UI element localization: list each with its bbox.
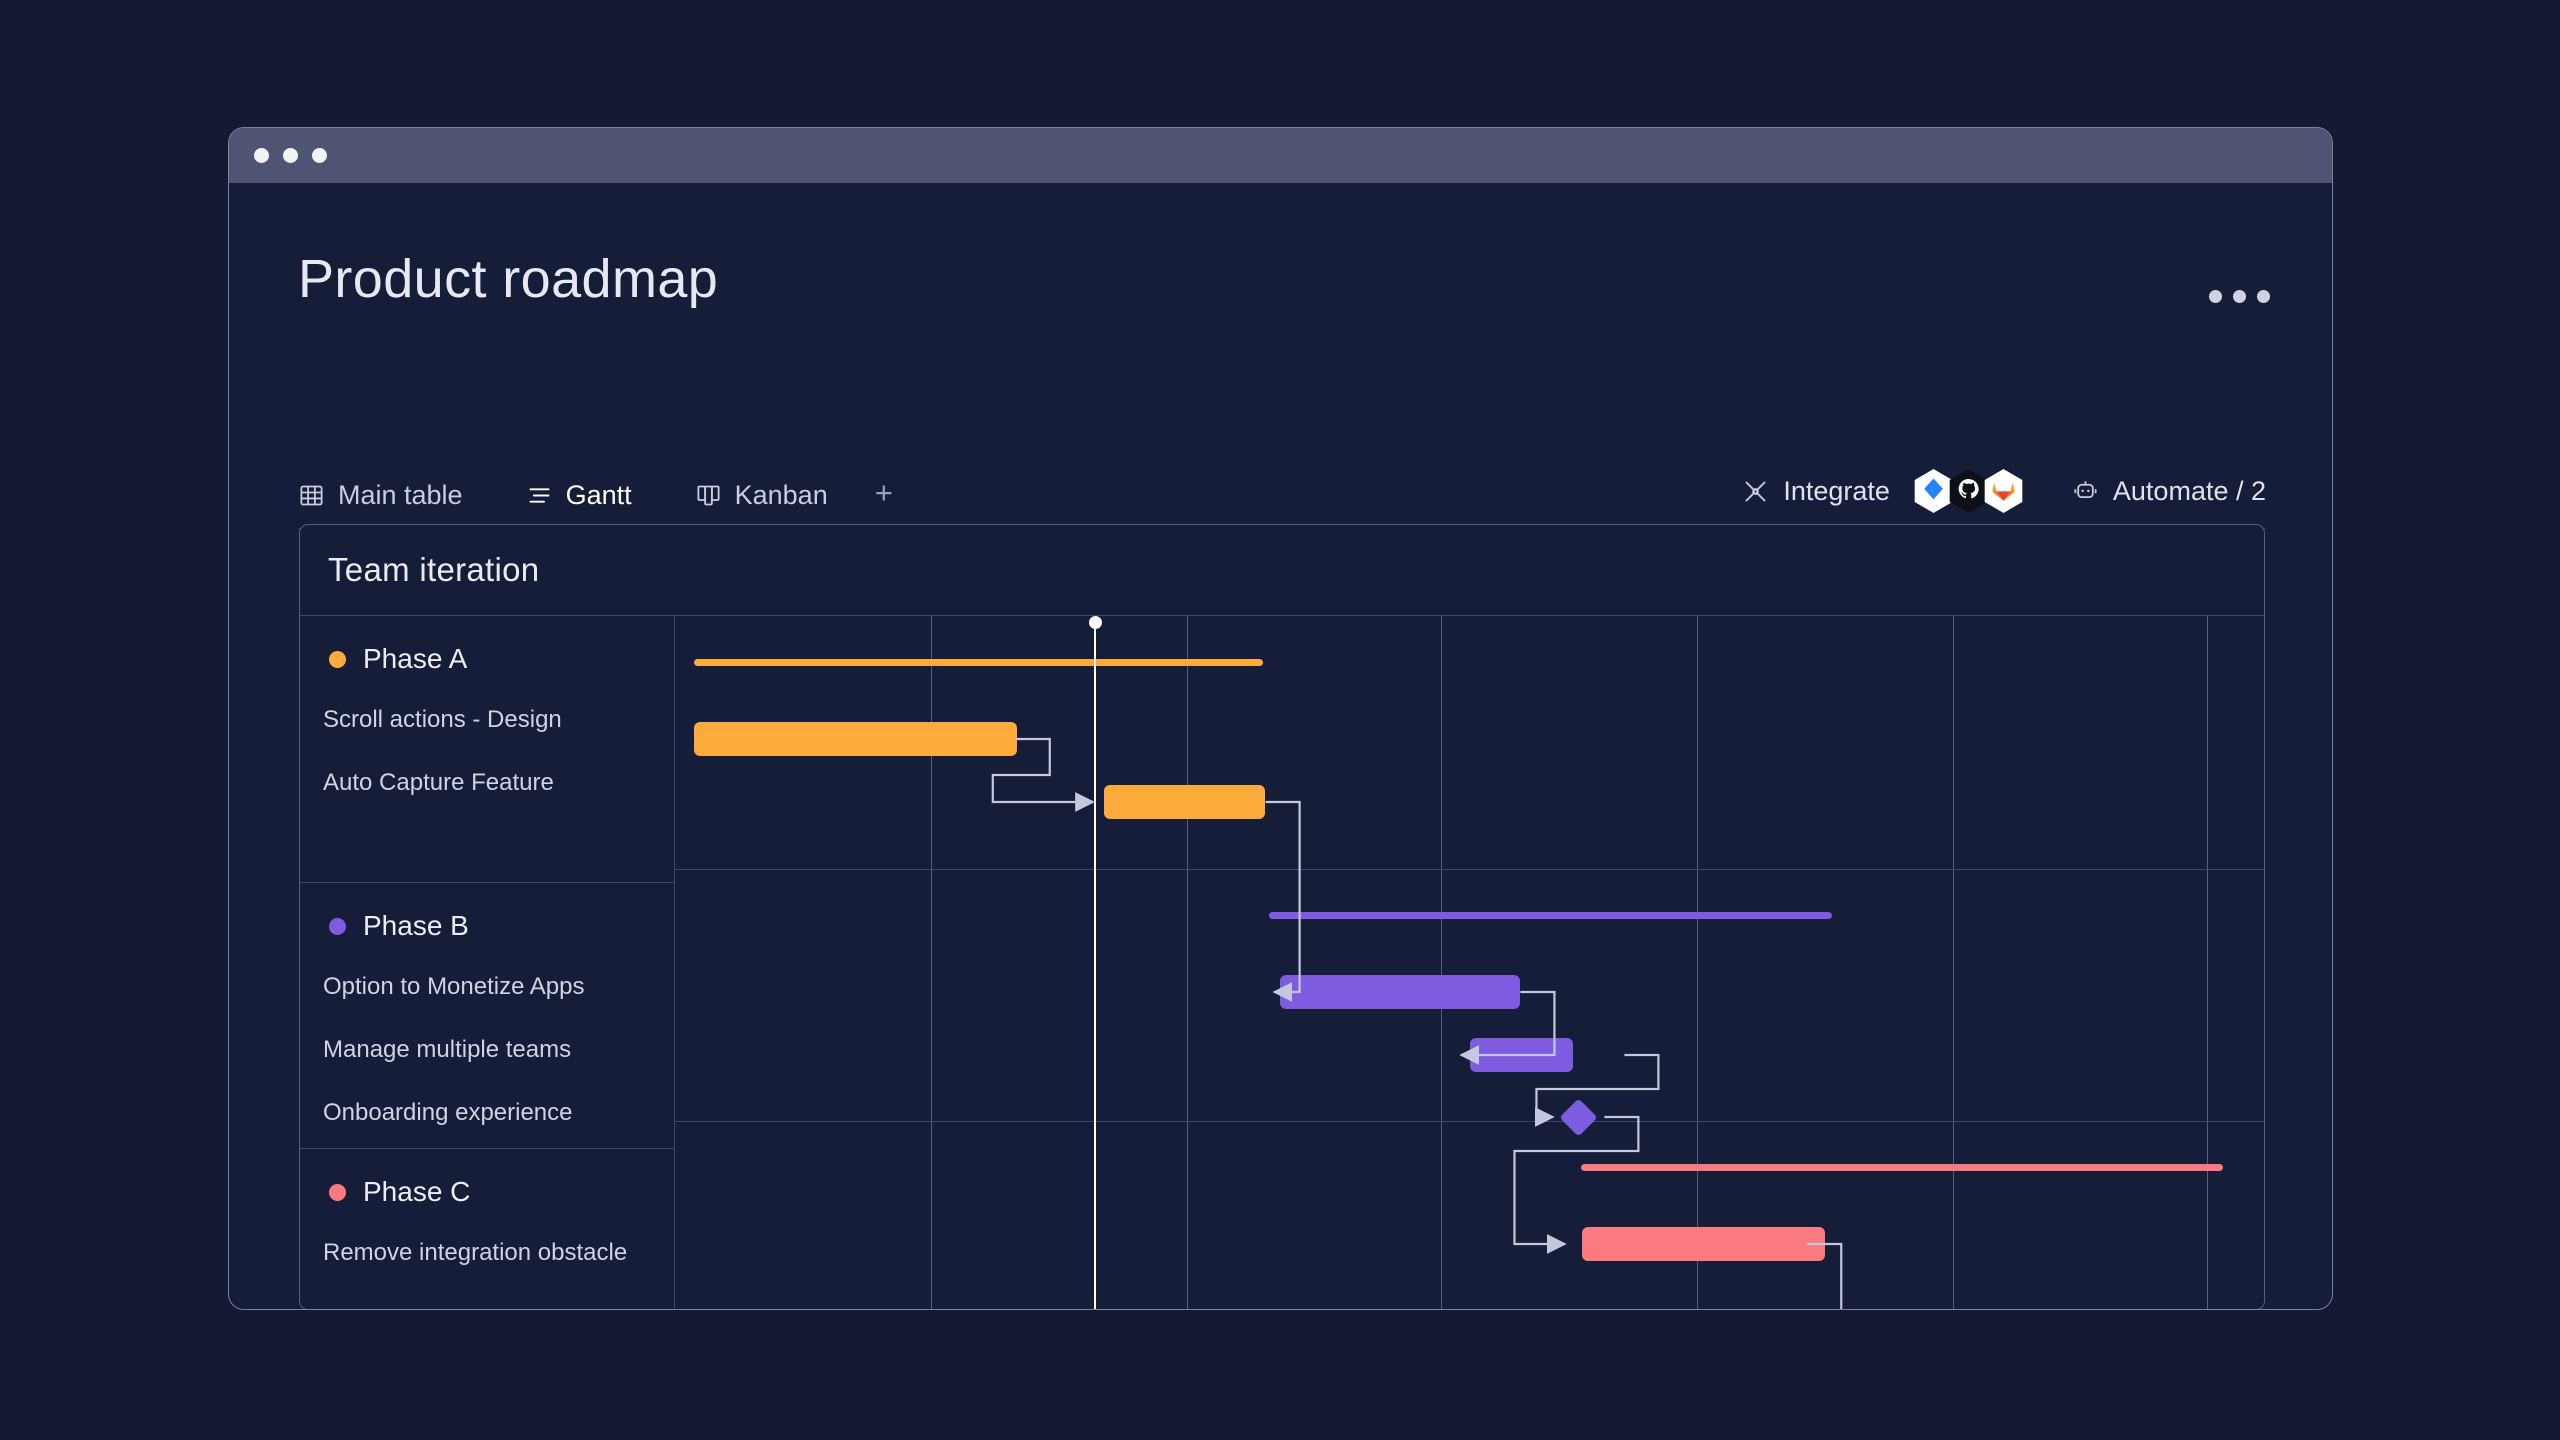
group-phase-a: Phase A Scroll actions - Design Auto Cap…	[300, 630, 674, 883]
automate-button[interactable]: Automate / 2	[2072, 476, 2266, 507]
gridline	[1187, 616, 1188, 1310]
today-marker-line	[1094, 622, 1096, 1310]
close-icon[interactable]	[254, 148, 269, 163]
integrate-label: Integrate	[1783, 476, 1890, 507]
page-title: Product roadmap	[298, 248, 718, 310]
group-title[interactable]: Phase C	[300, 1163, 674, 1221]
robot-icon	[2072, 478, 2099, 505]
minimize-icon[interactable]	[283, 148, 298, 163]
task-bar-scroll-actions[interactable]	[694, 722, 1017, 756]
integrate-icon	[1742, 478, 1769, 505]
integrate-button[interactable]: Integrate	[1742, 476, 1890, 507]
integration-avatars	[1912, 468, 2025, 514]
more-options-button[interactable]	[2209, 290, 2270, 303]
dependency-connectors	[675, 616, 2264, 1310]
task-row[interactable]: Option to Monetize Apps	[300, 955, 674, 1018]
automate-label: Automate / 2	[2113, 476, 2266, 507]
summary-bar-phase-a[interactable]	[694, 659, 1263, 666]
summary-bar-phase-b[interactable]	[1269, 912, 1832, 919]
gantt-body: Phase A Scroll actions - Design Auto Cap…	[300, 616, 2264, 1310]
group-phase-c: Phase C Remove integration obstacle	[300, 1163, 674, 1284]
group-label: Phase A	[363, 643, 467, 675]
table-icon	[298, 482, 325, 509]
kebab-dot	[2233, 290, 2246, 303]
phase-color-dot	[329, 1184, 346, 1201]
milestone-onboarding-experience[interactable]	[1559, 1098, 1597, 1136]
gridline	[675, 869, 2264, 870]
window-titlebar	[229, 128, 2332, 183]
tab-kanban[interactable]: Kanban	[695, 480, 828, 528]
board-title: Team iteration	[328, 551, 539, 589]
gridline	[2207, 616, 2208, 1310]
group-title[interactable]: Phase A	[300, 630, 674, 688]
gantt-chart-area[interactable]	[675, 616, 2264, 1310]
task-label-column: Phase A Scroll actions - Design Auto Cap…	[300, 616, 675, 1310]
task-row[interactable]: Auto Capture Feature	[300, 751, 674, 814]
task-row[interactable]: Onboarding experience	[300, 1081, 674, 1144]
gridline	[1697, 616, 1698, 1310]
tabbar-actions: Integrate	[1742, 468, 2266, 514]
gridline	[1953, 616, 1954, 1310]
kebab-dot	[2209, 290, 2222, 303]
tab-main-table[interactable]: Main table	[298, 480, 463, 528]
gitlab-icon[interactable]	[1982, 468, 2025, 514]
group-label: Phase B	[363, 910, 469, 942]
board-header: Team iteration	[300, 525, 2264, 616]
task-bar-manage-teams[interactable]	[1470, 1038, 1573, 1072]
gantt-icon	[526, 482, 553, 509]
tab-gantt[interactable]: Gantt	[526, 480, 632, 528]
task-bar-remove-obstacle[interactable]	[1582, 1227, 1825, 1261]
gridline	[1441, 616, 1442, 1310]
gantt-card: Team iteration Phase A Scroll actions - …	[299, 524, 2265, 1310]
task-row[interactable]: Remove integration obstacle	[300, 1221, 674, 1284]
group-phase-b: Phase B Option to Monetize Apps Manage m…	[300, 897, 674, 1149]
kanban-icon	[695, 482, 722, 509]
screen: Product roadmap Main table	[0, 0, 2560, 1440]
phase-color-dot	[329, 918, 346, 935]
maximize-icon[interactable]	[312, 148, 327, 163]
kebab-dot	[2257, 290, 2270, 303]
browser-window: Product roadmap Main table	[228, 127, 2333, 1310]
summary-bar-phase-c[interactable]	[1581, 1164, 2223, 1171]
task-bar-monetize-apps[interactable]	[1280, 975, 1520, 1009]
tab-label: Gantt	[566, 480, 632, 511]
today-marker-handle[interactable]	[1089, 616, 1102, 629]
group-title[interactable]: Phase B	[300, 897, 674, 955]
phase-color-dot	[329, 651, 346, 668]
view-tabbar: Main table Gantt Kanban +	[298, 466, 2266, 529]
task-row[interactable]: Manage multiple teams	[300, 1018, 674, 1081]
task-bar-auto-capture[interactable]	[1104, 785, 1264, 819]
gridline	[675, 1121, 2264, 1122]
task-row[interactable]: Scroll actions - Design	[300, 688, 674, 751]
tab-label: Main table	[338, 480, 463, 511]
group-label: Phase C	[363, 1176, 470, 1208]
add-view-button[interactable]: +	[875, 477, 893, 528]
tab-label: Kanban	[735, 480, 828, 511]
gridline	[931, 616, 932, 1310]
